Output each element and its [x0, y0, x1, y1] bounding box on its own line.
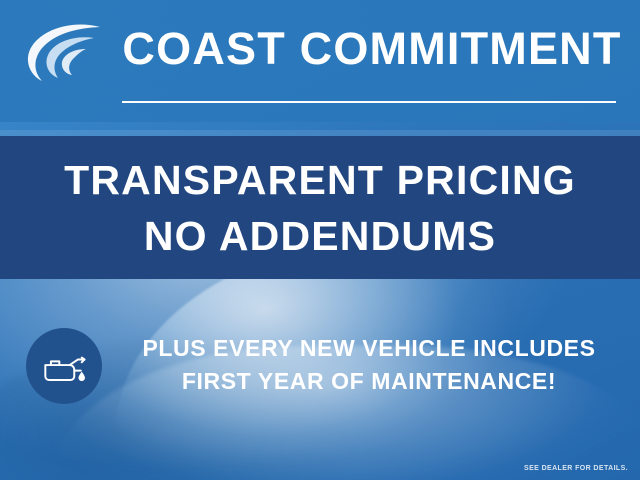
coast-wave-logo-icon [22, 18, 114, 86]
header-divider [122, 101, 616, 103]
page-title: COAST COMMITMENT [118, 22, 626, 76]
offer-line-1: PLUS EVERY NEW VEHICLE INCLUDES [116, 332, 622, 365]
oil-can-icon [26, 328, 102, 404]
maintenance-offer: PLUS EVERY NEW VEHICLE INCLUDES FIRST YE… [0, 318, 640, 416]
pricing-band: TRANSPARENT PRICING NO ADDENDUMS [0, 136, 640, 279]
band-line-2: NO ADDENDUMS [144, 208, 496, 264]
band-line-1: TRANSPARENT PRICING [64, 152, 576, 208]
offer-line-2: FIRST YEAR OF MAINTENANCE! [116, 365, 622, 398]
offer-text: PLUS EVERY NEW VEHICLE INCLUDES FIRST YE… [116, 332, 622, 398]
banner-header: COAST COMMITMENT [0, 0, 640, 122]
disclaimer-text: SEE DEALER FOR DETAILS. [524, 465, 628, 472]
coast-commitment-banner: COAST COMMITMENT TRANSPARENT PRICING NO … [0, 0, 640, 480]
